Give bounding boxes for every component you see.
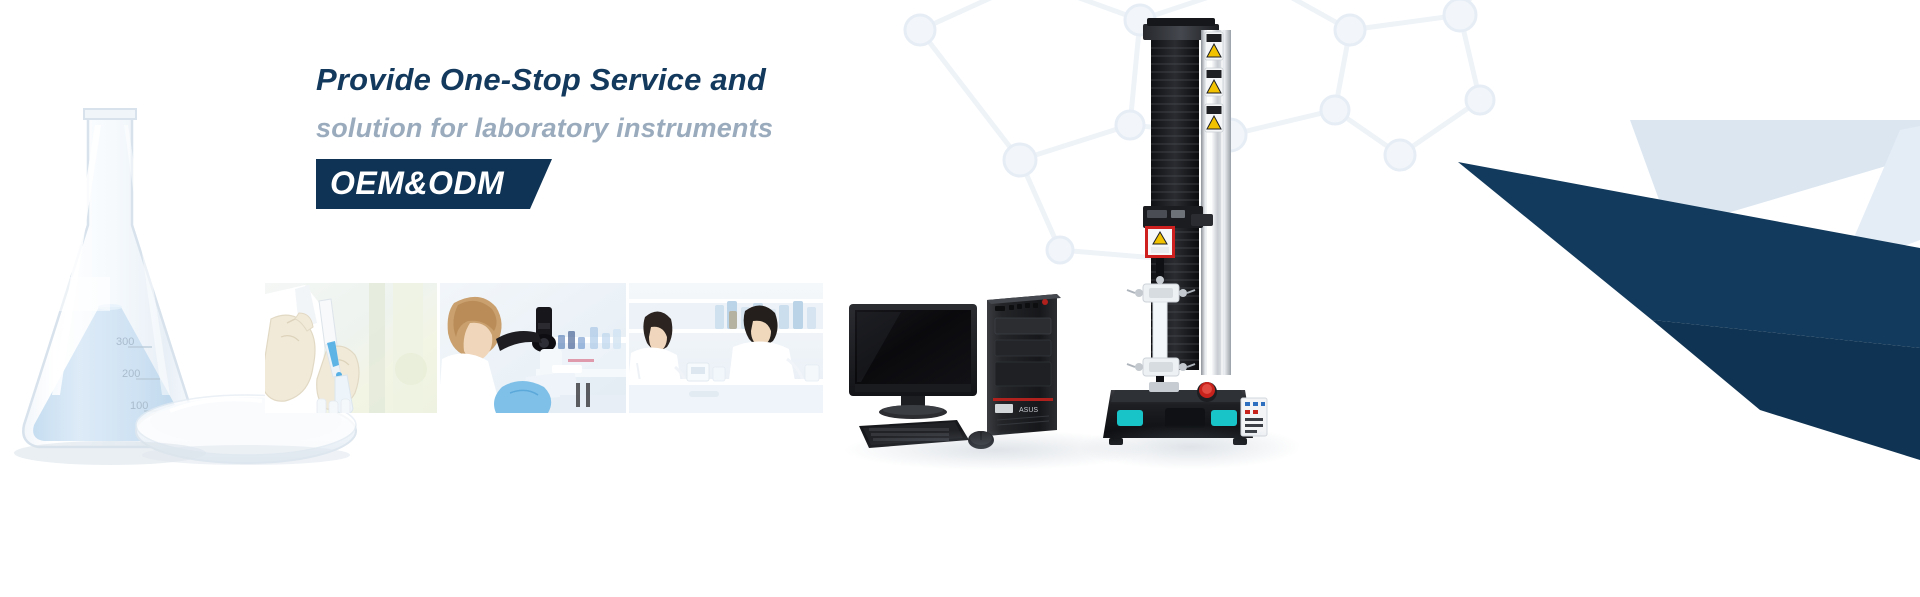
warning-labels [1205, 32, 1223, 132]
pipetting-lab-photo [265, 283, 437, 413]
microscope-lab-photo [440, 283, 626, 413]
oem-odm-badge-wrap: OEM&ODM [316, 159, 530, 209]
lab-bench-photo [629, 283, 823, 413]
badge-angled-tail-icon [530, 159, 552, 209]
desktop-computer-with-monitor: ASUS [845, 290, 1095, 455]
oem-odm-badge: OEM&ODM [316, 159, 530, 209]
svg-text:200: 200 [122, 368, 140, 380]
svg-text:ASUS: ASUS [1019, 407, 1038, 414]
svg-text:100: 100 [130, 400, 148, 412]
decorative-arrow-group [1200, 120, 1920, 460]
product-banner: 300 200 100 Provide One-Stop Service and… [0, 0, 1920, 597]
svg-text:300: 300 [116, 336, 134, 348]
photo-strip [265, 283, 823, 413]
